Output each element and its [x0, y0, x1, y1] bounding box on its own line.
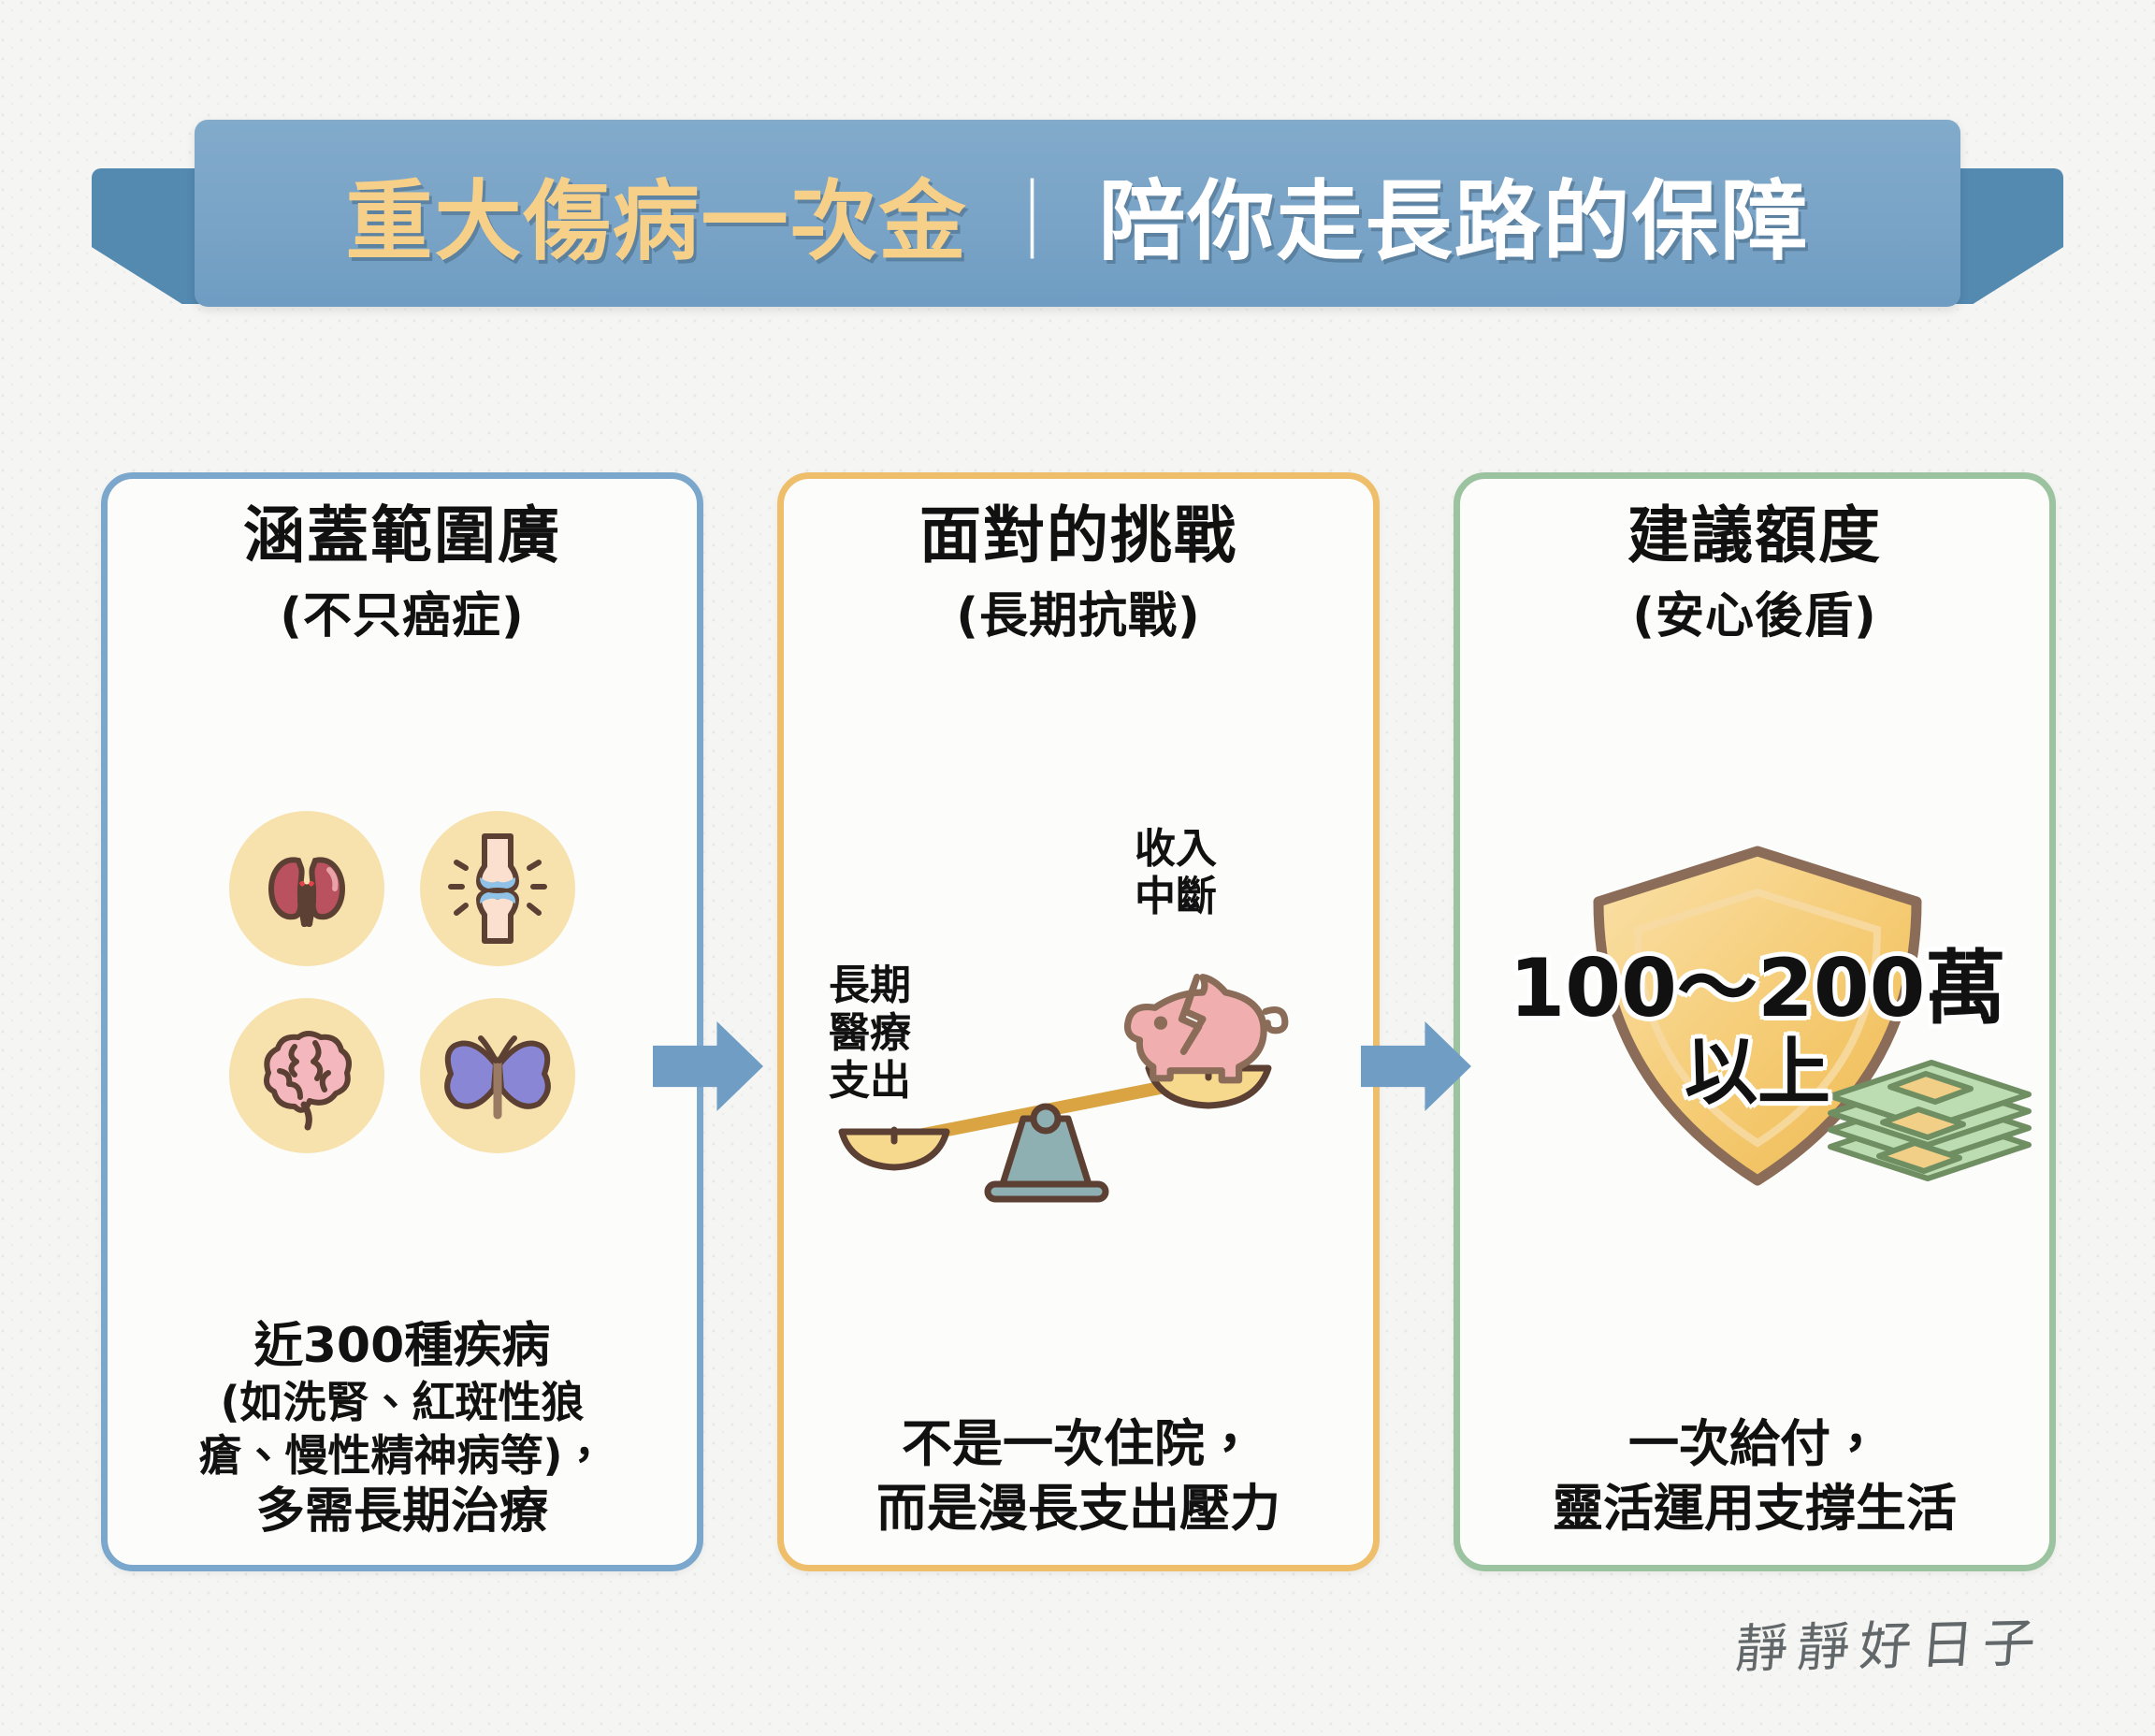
unbalanced-scale-group: 長期 醫療 支出 收入 中斷 — [801, 832, 1356, 1225]
card-coverage[interactable]: 涵蓋範圍廣 (不只癌症) — [101, 472, 703, 1571]
organ-icon-grid — [229, 811, 575, 1153]
kidneys-icon — [229, 811, 384, 966]
card-coverage-illustration — [124, 646, 680, 1317]
amount-footer-line-1: 一次給付， — [1553, 1411, 1957, 1476]
amount-line-2: 以上 — [1477, 1033, 2038, 1114]
banner-title-separator: ｜ — [992, 155, 1075, 272]
butterfly-lupus-icon — [420, 998, 575, 1153]
ribbon-body: 重大傷病一次金 ｜ 陪你走長路的保障 — [195, 120, 1960, 307]
coverage-disease-count: 近300種疾病 — [198, 1317, 605, 1375]
card-coverage-footer: 近300種疾病 (如洗腎、紅斑性狼 瘡、慢性精神病等)， 多需長期治療 — [198, 1317, 605, 1541]
coverage-note-line-2: 瘡、慢性精神病等)， — [198, 1429, 605, 1483]
recommended-amount: 100～200萬 以上 — [1477, 947, 2038, 1115]
coverage-treatment: 多需長期治療 — [198, 1483, 605, 1541]
cards-row: 涵蓋範圍廣 (不只癌症) — [101, 472, 2056, 1571]
card-amount-subheading: (安心後盾) — [1627, 576, 1882, 646]
challenge-footer-line-1: 不是一次住院， — [876, 1411, 1280, 1476]
coverage-note-line-1: (如洗腎、紅斑性狼 — [198, 1376, 605, 1429]
card-amount-illustration: 100～200萬 以上 — [1477, 646, 2032, 1411]
amount-footer-line-2: 靈活運用支撐生活 — [1553, 1476, 1957, 1541]
card-challenge-subheading: (長期抗戰) — [919, 576, 1237, 646]
banner-title: 重大傷病一次金 ｜ 陪你走長路的保障 — [346, 151, 1810, 277]
banner-title-rest: 陪你走長路的保障 — [1099, 151, 1810, 277]
card-challenge-heading: 面對的挑戰 — [919, 501, 1237, 571]
card-amount[interactable]: 建議額度 (安心後盾) — [1454, 472, 2056, 1571]
card-challenge[interactable]: 面對的挑戰 (長期抗戰) 長期 醫療 支出 收入 中斷 — [777, 472, 1380, 1571]
challenge-footer-line-2: 而是漫長支出壓力 — [876, 1476, 1280, 1541]
card-challenge-header: 面對的挑戰 (長期抗戰) — [919, 501, 1237, 646]
card-amount-footer: 一次給付， 靈活運用支撐生活 — [1553, 1411, 1957, 1541]
brand-signature: 靜靜好日子 — [1732, 1601, 2047, 1684]
card-amount-header: 建議額度 (安心後盾) — [1627, 501, 1882, 646]
card-coverage-header: 涵蓋範圍廣 (不只癌症) — [243, 501, 561, 646]
joint-pain-icon — [420, 811, 575, 966]
title-banner: 重大傷病一次金 ｜ 陪你走長路的保障 — [0, 120, 2155, 307]
card-coverage-heading: 涵蓋範圍廣 — [243, 501, 561, 571]
card-challenge-footer: 不是一次住院， 而是漫長支出壓力 — [876, 1411, 1280, 1541]
brain-icon — [229, 998, 384, 1153]
card-coverage-subheading: (不只癌症) — [243, 576, 561, 646]
banner-title-highlight: 重大傷病一次金 — [346, 151, 968, 277]
card-amount-heading: 建議額度 — [1627, 501, 1882, 571]
card-challenge-illustration: 長期 醫療 支出 收入 中斷 — [801, 646, 1356, 1411]
amount-line-1: 100～200萬 — [1477, 947, 2038, 1031]
